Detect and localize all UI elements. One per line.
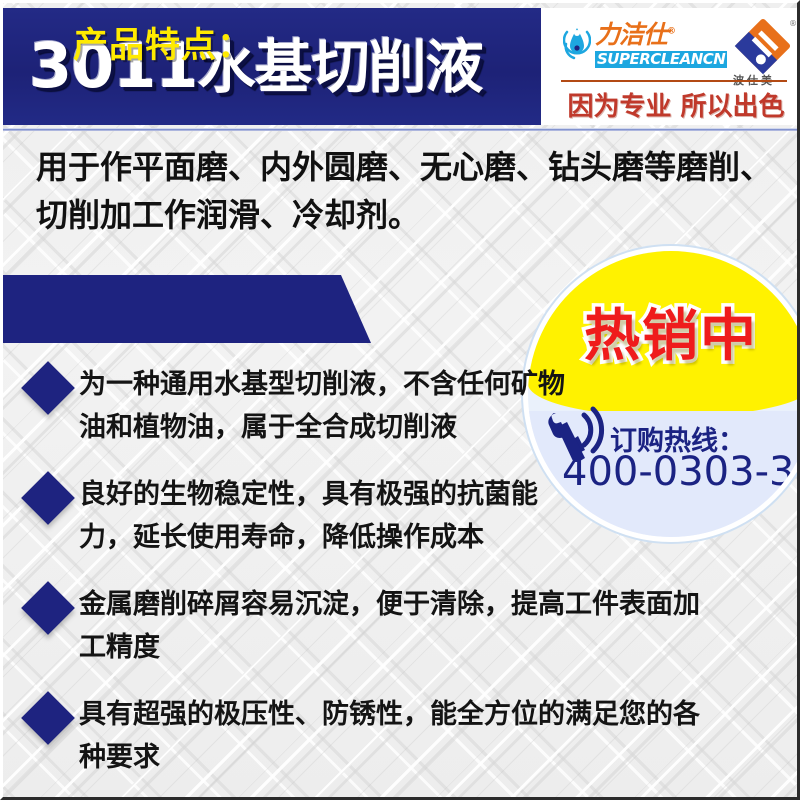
logo-row: 力洁仕® SUPERCLEANCN ® — [557, 16, 793, 78]
brand-wordmark: 力洁仕® SUPERCLEANCN — [595, 18, 725, 68]
diamond-bullet-icon — [21, 691, 75, 745]
diamond-bullet-icon — [21, 581, 75, 635]
list-item: 具有超强的极压性、防锈性，能全方位的满足您的各种要求 — [3, 693, 797, 779]
svg-text:®: ® — [789, 19, 797, 28]
brand-logo-zone: 力洁仕® SUPERCLEANCN ® — [551, 8, 797, 125]
superclean-droplet-icon — [563, 24, 591, 68]
description-line-1: 用于作平面磨、内外圆磨、无心磨、钻头磨等磨削、 — [36, 143, 781, 191]
features-banner-label: 产品特点： — [73, 17, 253, 68]
product-description: 用于作平面磨、内外圆磨、无心磨、钻头磨等磨削、 切削加工作润滑、冷却剂。 — [36, 143, 781, 239]
promo-headline: 热销中 — [528, 291, 800, 372]
diamond-bullet-icon — [21, 361, 75, 415]
diamond-bullet-icon — [21, 471, 75, 525]
product-poster: 3011水基切削液 力洁仕® SUPERCLEANCN — [0, 0, 800, 800]
feature-text: 良好的生物稳定性，具有极强的抗菌能力，延长使用寿命，降低操作成本 — [79, 473, 569, 559]
registered-mark: ® — [667, 27, 675, 37]
features-list: 为一种通用水基型切削液，不含任何矿物油和植物油，属于全合成切削液 良好的生物稳定… — [3, 363, 797, 800]
brand-slogan: 因为专业 所以出色 — [561, 86, 791, 123]
feature-text: 金属磨削碎屑容易沉淀，便于清除，提高工件表面加工精度 — [79, 583, 719, 669]
list-item: 良好的生物稳定性，具有极强的抗菌能力，延长使用寿命，降低操作成本 — [3, 473, 797, 559]
features-banner — [3, 275, 371, 343]
list-item: 金属磨削碎屑容易沉淀，便于清除，提高工件表面加工精度 — [3, 583, 797, 669]
header-bottom-divider — [3, 128, 797, 131]
brand-name-cn: 力洁仕® — [595, 20, 675, 49]
feature-text: 具有超强的极压性、防锈性，能全方位的满足您的各种要求 — [79, 693, 719, 779]
description-line-2: 切削加工作润滑、冷却剂。 — [36, 191, 781, 239]
feature-text: 为一种通用水基型切削液，不含任何矿物油和植物油，属于全合成切削液 — [79, 363, 569, 449]
list-item: 为一种通用水基型切削液，不含任何矿物油和植物油，属于全合成切削液 — [3, 363, 797, 449]
brand-name-en: SUPERCLEANCN — [595, 51, 727, 68]
logo-divider-rule — [561, 80, 787, 82]
